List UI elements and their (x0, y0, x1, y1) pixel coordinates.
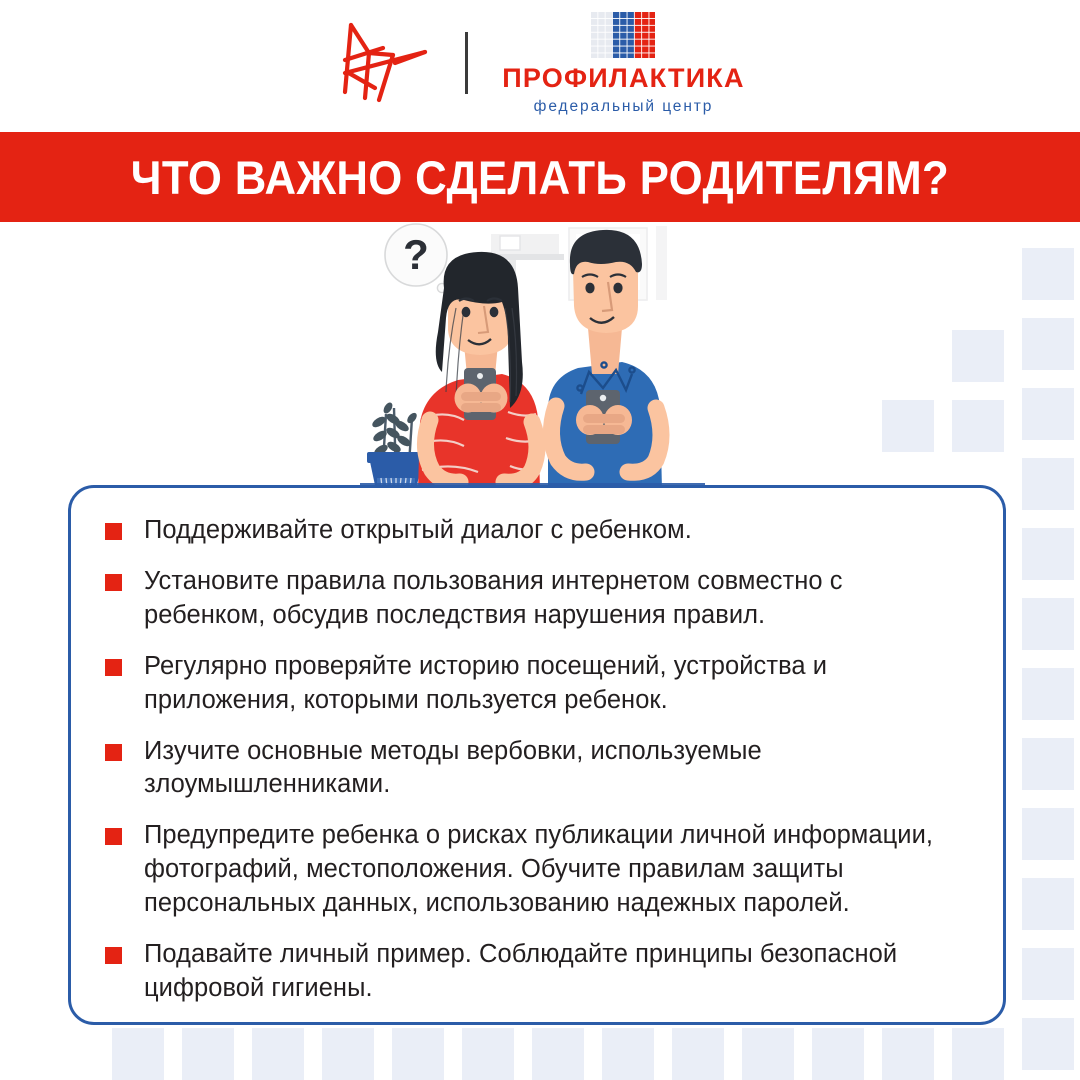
list-item-text: Установите правила пользования интернето… (144, 565, 963, 633)
background-square (1022, 528, 1074, 580)
svg-text:?: ? (403, 231, 429, 278)
list-item: Установите правила пользования интернето… (105, 565, 963, 633)
background-square (462, 1028, 514, 1080)
background-square (252, 1028, 304, 1080)
background-square (952, 1028, 1004, 1080)
content-card: Поддерживайте открытый диалог с ребенком… (68, 485, 1006, 1025)
vertical-divider (465, 32, 468, 94)
bullet-square-icon (105, 523, 122, 540)
header-logo-band: ПРОФИЛАКТИКА федеральный центр (0, 0, 1080, 132)
background-square (952, 330, 1004, 382)
thought-bubble-icon: ? (385, 224, 447, 293)
background-square (1022, 808, 1074, 860)
logo-row: ПРОФИЛАКТИКА федеральный центр (335, 12, 744, 115)
background-square (1022, 458, 1074, 510)
background-square (1022, 248, 1074, 300)
poster-canvas: ПРОФИЛАКТИКА федеральный центр ЧТО ВАЖНО… (0, 0, 1080, 1080)
background-square (532, 1028, 584, 1080)
brand-block: ПРОФИЛАКТИКА федеральный центр (502, 12, 744, 115)
chair-line-icon (335, 20, 431, 106)
recommendations-list: Поддерживайте открытый диалог с ребенком… (105, 514, 963, 1006)
background-square (602, 1028, 654, 1080)
flag-grid-icon (591, 12, 655, 58)
list-item-text: Изучите основные методы вербовки, исполь… (144, 735, 963, 803)
brand-subtitle: федеральный центр (534, 99, 714, 115)
background-square (952, 400, 1004, 452)
potted-plant (367, 401, 425, 490)
woman-in-red-shirt (418, 252, 540, 490)
brand-name: ПРОФИЛАКТИКА (502, 65, 744, 92)
background-square (1022, 598, 1074, 650)
background-square (882, 400, 934, 452)
page-title: ЧТО ВАЖНО СДЕЛАТЬ РОДИТЕЛЯМ? (131, 154, 949, 201)
background-square (812, 1028, 864, 1080)
background-square (882, 1028, 934, 1080)
background-square (1022, 738, 1074, 790)
list-item: Предупредите ребенка о рисках публикации… (105, 819, 963, 921)
background-square (742, 1028, 794, 1080)
background-square (672, 1028, 724, 1080)
background-square (1022, 668, 1074, 720)
background-square (1022, 878, 1074, 930)
background-square (1022, 1018, 1074, 1070)
list-item: Регулярно проверяйте историю посещений, … (105, 650, 963, 718)
title-bar: ЧТО ВАЖНО СДЕЛАТЬ РОДИТЕЛЯМ? (0, 132, 1080, 222)
list-item-text: Подавайте личный пример. Соблюдайте прин… (144, 938, 963, 1006)
bullet-square-icon (105, 828, 122, 845)
bullet-square-icon (105, 574, 122, 591)
background-square (182, 1028, 234, 1080)
list-item: Изучите основные методы вербовки, исполь… (105, 735, 963, 803)
background-square (1022, 388, 1074, 440)
background-square (1022, 318, 1074, 370)
bullet-square-icon (105, 659, 122, 676)
background-square (322, 1028, 374, 1080)
list-item: Поддерживайте открытый диалог с ребенком… (105, 514, 963, 548)
background-square (112, 1028, 164, 1080)
parents-with-smartphones-illustration: ? (360, 222, 705, 490)
list-item-text: Регулярно проверяйте историю посещений, … (144, 650, 963, 718)
list-item-text: Предупредите ребенка о рисках публикации… (144, 819, 963, 921)
list-item: Подавайте личный пример. Соблюдайте прин… (105, 938, 963, 1006)
background-square (1022, 948, 1074, 1000)
bullet-square-icon (105, 947, 122, 964)
list-item-text: Поддерживайте открытый диалог с ребенком… (144, 514, 692, 548)
background-square (392, 1028, 444, 1080)
bullet-square-icon (105, 744, 122, 761)
